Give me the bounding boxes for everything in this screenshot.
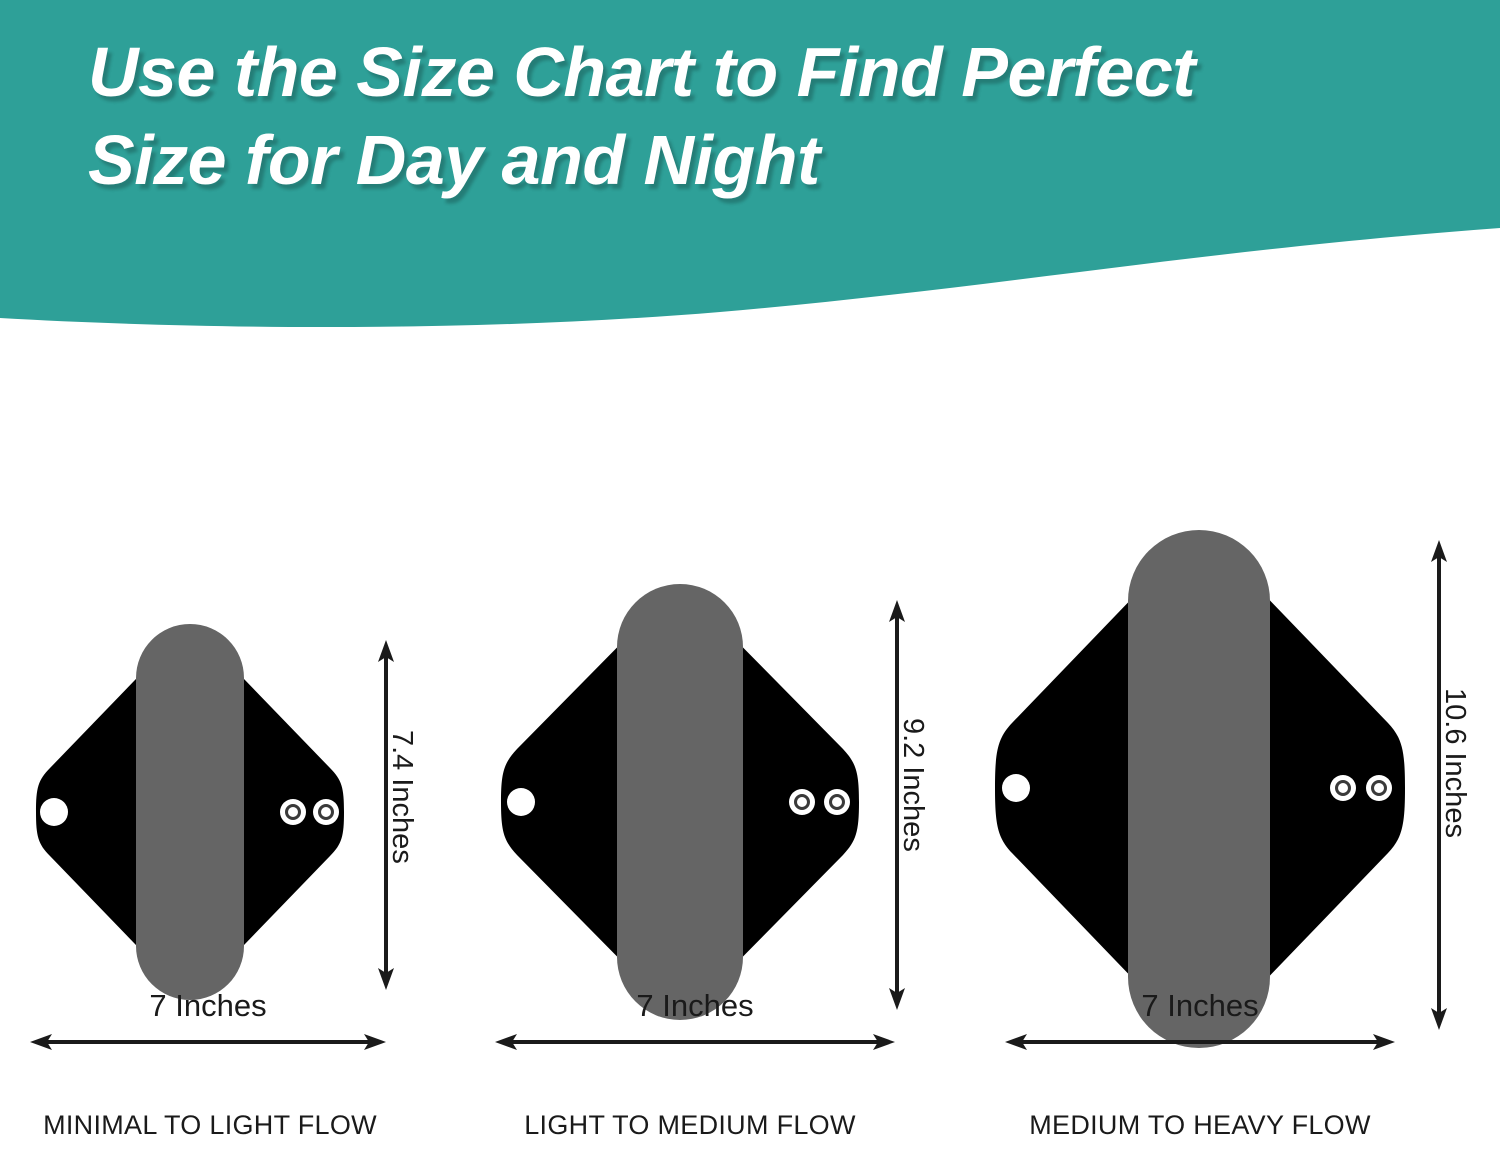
pad-column-3: 10.6 Inches 7 Inches MEDIUM TO HEAVY FLO… bbox=[975, 520, 1500, 1158]
height-label-2: 9.2 Inches bbox=[896, 718, 929, 852]
width-label-1: 7 Inches bbox=[30, 988, 386, 1024]
width-label-3: 7 Inches bbox=[1005, 988, 1395, 1024]
flow-caption-2: LIGHT TO MEDIUM FLOW bbox=[480, 1110, 900, 1141]
horizontal-arrow-3 bbox=[1005, 1030, 1395, 1054]
pad-core-2 bbox=[617, 584, 743, 1020]
snap-hole-icon bbox=[40, 798, 68, 826]
width-dimension-3: 7 Inches bbox=[1005, 1030, 1395, 1054]
pad-illustration-2 bbox=[495, 592, 865, 1012]
flow-caption-3: MEDIUM TO HEAVY FLOW bbox=[990, 1110, 1410, 1141]
flow-caption-1: MINIMAL TO LIGHT FLOW bbox=[0, 1110, 420, 1141]
pad-column-2: 9.2 Inches 7 Inches LIGHT TO MEDIUM FLOW bbox=[470, 560, 940, 1158]
pad-core-1 bbox=[136, 624, 244, 1000]
pad-column-1: 7.4 Inches 7 Inches MINIMAL TO LIGHT FLO… bbox=[0, 560, 470, 1158]
header-banner: Use the Size Chart to Find Perfect Size … bbox=[0, 0, 1500, 330]
pad-illustration-1 bbox=[30, 632, 350, 992]
pad-illustration-3 bbox=[990, 538, 1410, 1038]
width-label-2: 7 Inches bbox=[495, 988, 895, 1024]
horizontal-arrow-2 bbox=[495, 1030, 895, 1054]
height-dimension-3: 10.6 Inches bbox=[1427, 540, 1451, 1030]
height-dimension-1: 7.4 Inches bbox=[374, 640, 398, 990]
width-dimension-1: 7 Inches bbox=[30, 1030, 386, 1054]
page-title: Use the Size Chart to Find Perfect Size … bbox=[88, 28, 1428, 204]
pad-core-3 bbox=[1128, 530, 1270, 1048]
width-dimension-2: 7 Inches bbox=[495, 1030, 895, 1054]
horizontal-arrow-1 bbox=[30, 1030, 386, 1054]
snap-hole-icon bbox=[1002, 774, 1030, 802]
height-label-1: 7.4 Inches bbox=[385, 730, 418, 864]
snap-hole-icon bbox=[507, 788, 535, 816]
height-label-3: 10.6 Inches bbox=[1438, 688, 1471, 838]
height-dimension-2: 9.2 Inches bbox=[885, 600, 909, 1010]
size-chart-infographic: Use the Size Chart to Find Perfect Size … bbox=[0, 0, 1500, 1158]
